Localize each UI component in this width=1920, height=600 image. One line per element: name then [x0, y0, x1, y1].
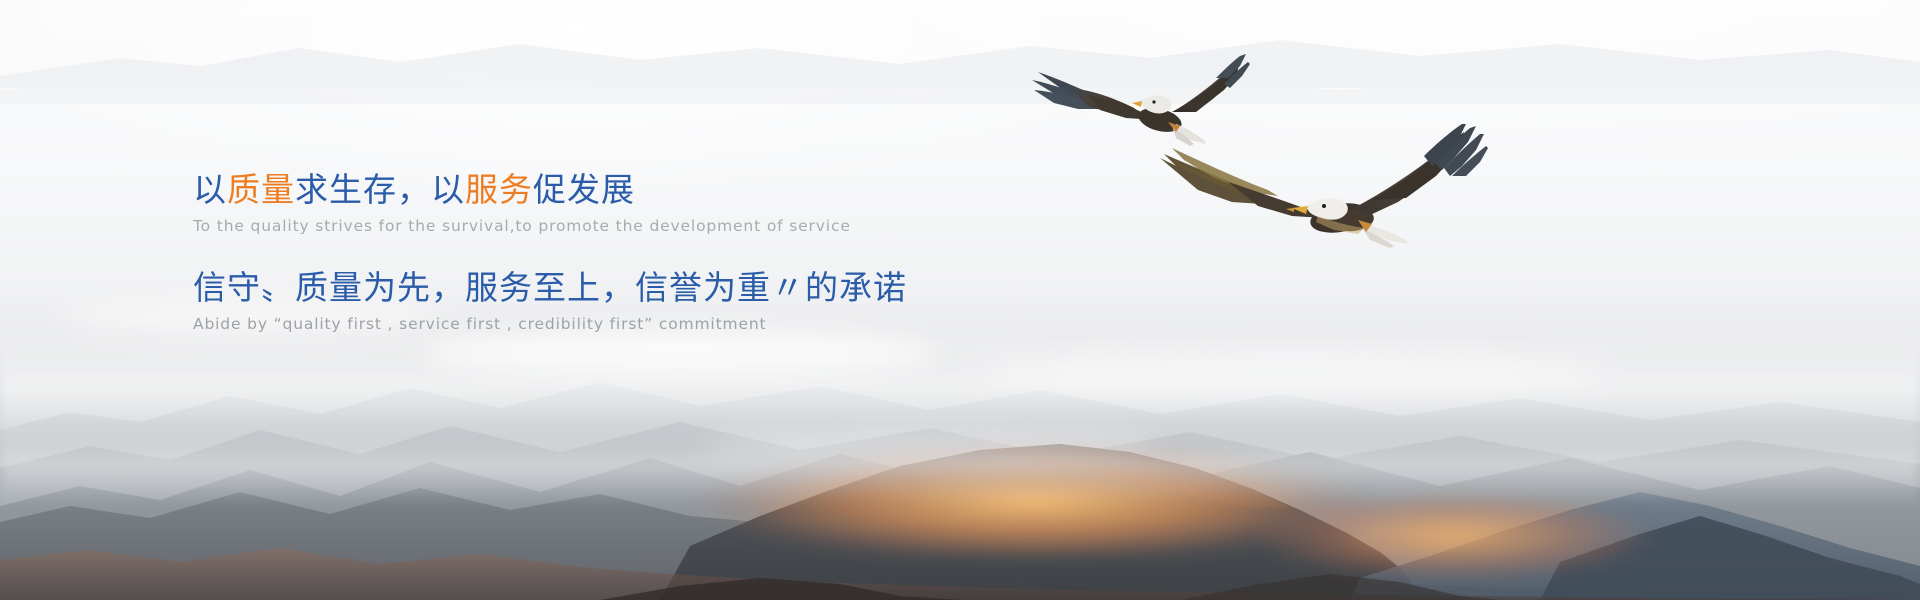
slogan-copy: 以质量求生存，以服务促发展 To the quality strives for… — [193, 170, 1173, 333]
distant-ridge-2-icon — [0, 44, 1920, 104]
eagle-lower-right-icon — [1158, 120, 1488, 260]
slogan-block-2: 信守〟质量为先，服务至上，信誉为重〃的承诺 Abide by “quality … — [193, 268, 1173, 333]
headline-seg-1-highlight: 质量 — [227, 170, 295, 209]
subtitle-secondary: Abide by “quality first , service first … — [193, 315, 1173, 333]
headline-seg-4: 促发展 — [533, 170, 635, 209]
headline-primary: 以质量求生存，以服务促发展 — [193, 170, 1173, 211]
hero-banner: 以质量求生存，以服务促发展 To the quality strives for… — [0, 0, 1920, 600]
headline-seg-3-highlight: 服务 — [465, 170, 533, 209]
headline-seg-2: 求生存，以 — [295, 170, 465, 209]
mountain-ranges — [0, 310, 1920, 600]
headline-secondary: 信守〟质量为先，服务至上，信誉为重〃的承诺 — [193, 268, 1173, 309]
subtitle-primary: To the quality strives for the survival,… — [193, 217, 1173, 235]
headline-seg-0: 以 — [193, 170, 227, 209]
slogan-block-1: 以质量求生存，以服务促发展 To the quality strives for… — [193, 170, 1173, 235]
